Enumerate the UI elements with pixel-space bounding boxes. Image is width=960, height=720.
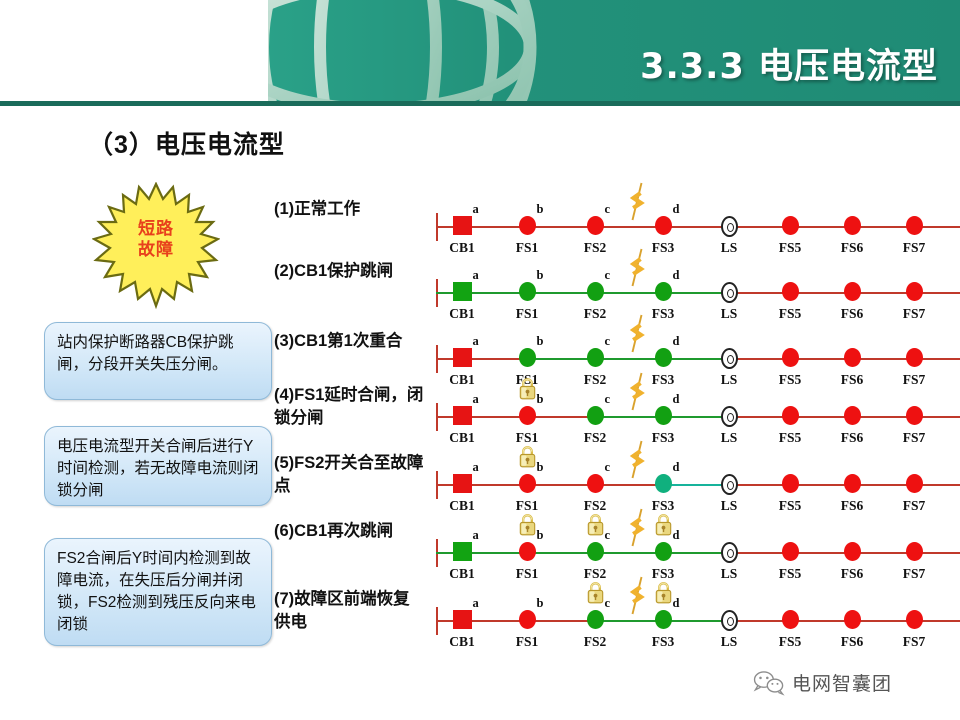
feeder-node-fs3[interactable]: FS3d	[655, 474, 672, 495]
feeder-node-fs1[interactable]: FS1b	[519, 348, 536, 369]
feeder-node-fs6[interactable]: FS6	[844, 406, 861, 427]
feeder-node-fs1[interactable]: FS1b	[519, 216, 536, 237]
breaker-square-icon	[453, 348, 472, 367]
line-segment	[527, 620, 595, 622]
switch-circle-icon	[906, 542, 923, 561]
switch-circle-icon	[906, 216, 923, 235]
feeder-node-fs1[interactable]: FS1b	[519, 610, 536, 631]
line-segment	[527, 226, 595, 228]
feeder-node-label: FS5	[779, 306, 802, 322]
line-segment	[462, 358, 527, 360]
line-segment	[595, 226, 663, 228]
breaker-square-icon	[453, 542, 472, 561]
measure-point-label-d: d	[673, 392, 680, 407]
line-segment	[527, 552, 595, 554]
burst-line-2: 故障	[92, 239, 220, 260]
feeder-node-label: CB1	[449, 498, 475, 514]
measure-point-label-d: d	[673, 596, 680, 611]
measure-point-label-a: a	[473, 334, 479, 349]
line-segment	[527, 358, 595, 360]
feeder-row-label: (1)正常工作	[274, 198, 426, 221]
feeder-node-cb1[interactable]: CB1a	[453, 216, 472, 237]
feeder-node-fs5[interactable]: FS5	[782, 282, 799, 303]
feeder-node-ls[interactable]: LS	[721, 216, 738, 237]
feeder-node-fs3[interactable]: FS3d	[655, 406, 672, 427]
switch-circle-icon	[587, 610, 604, 629]
switch-circle-icon	[519, 610, 536, 629]
switch-circle-icon	[587, 282, 604, 301]
feeder-node-cb1[interactable]: CB1a	[453, 348, 472, 369]
line-segment	[462, 484, 527, 486]
feeder-node-label: FS3	[652, 240, 675, 256]
feeder-node-label: FS7	[903, 498, 926, 514]
measure-point-label-b: b	[537, 528, 544, 543]
feeder-node-fs2[interactable]: FS2c	[587, 542, 604, 563]
feeder-node-label: CB1	[449, 566, 475, 582]
switch-circle-icon	[844, 348, 861, 367]
lightning-bolt-icon	[629, 372, 646, 412]
lightning-bolt-icon	[629, 508, 646, 548]
feeder-node-fs2[interactable]: FS2c	[587, 474, 604, 495]
measure-point-label-c: c	[605, 392, 611, 407]
switch-circle-icon	[519, 474, 536, 493]
switch-circle-icon	[587, 542, 604, 561]
feeder-row-6: (6)CB1再次跳闸CB1aFS1bFS2cFS3dLSFS5FS6FS7CB2	[274, 524, 960, 594]
line-segment	[663, 620, 729, 622]
feeder-node-label: FS6	[841, 566, 864, 582]
switch-circle-icon	[655, 216, 672, 235]
feeder-node-label: FS6	[841, 430, 864, 446]
line-segment	[527, 292, 595, 294]
tie-switch-icon	[721, 542, 738, 563]
feeder-node-fs5[interactable]: FS5	[782, 542, 799, 563]
tie-switch-icon	[721, 216, 738, 237]
breaker-square-icon	[453, 406, 472, 425]
switch-circle-icon	[587, 348, 604, 367]
measure-point-label-d: d	[673, 202, 680, 217]
measure-point-label-a: a	[473, 596, 479, 611]
tie-switch-icon	[721, 406, 738, 427]
measure-point-label-c: c	[605, 268, 611, 283]
switch-circle-icon	[782, 610, 799, 629]
breaker-square-icon	[453, 610, 472, 629]
measure-point-label-a: a	[473, 460, 479, 475]
switch-circle-icon	[655, 406, 672, 425]
line-segment	[462, 620, 527, 622]
callout-voltage-current-detect: 电压电流型开关合闸后进行Y时间检测，若无故障电流则闭锁分闸	[44, 426, 272, 506]
feeder-node-label: FS3	[652, 634, 675, 650]
feeder-node-cb1[interactable]: CB1a	[453, 406, 472, 427]
tie-switch-icon	[721, 610, 738, 631]
feeder-node-fs6[interactable]: FS6	[844, 542, 861, 563]
feeder-node-label: FS5	[779, 240, 802, 256]
feeder-node-fs5[interactable]: FS5	[782, 474, 799, 495]
feeder-node-fs3[interactable]: FS3d	[655, 542, 672, 563]
switch-circle-icon	[587, 406, 604, 425]
measure-point-label-b: b	[537, 596, 544, 611]
feeder-line: CB1aFS1bFS2cFS3dLSFS5FS6FS7CB2	[432, 264, 960, 334]
feeder-line: CB1aFS1bFS2cFS3dLSFS5FS6FS7CB2	[432, 456, 960, 526]
switch-circle-icon	[906, 406, 923, 425]
measure-point-label-a: a	[473, 202, 479, 217]
line-segment	[663, 226, 729, 228]
feeder-node-label: CB1	[449, 306, 475, 322]
switch-circle-icon	[782, 542, 799, 561]
measure-point-label-d: d	[673, 334, 680, 349]
feeder-node-label: FS1	[516, 634, 539, 650]
feeder-node-label: FS7	[903, 634, 926, 650]
measure-point-label-b: b	[537, 460, 544, 475]
feeder-node-label: FS5	[779, 430, 802, 446]
padlock-icon	[518, 444, 537, 468]
line-segment	[595, 358, 663, 360]
feeder-node-cb1[interactable]: CB1a	[453, 610, 472, 631]
feeder-node-label: FS1	[516, 566, 539, 582]
measure-point-label-d: d	[673, 528, 680, 543]
header-divider-rule	[0, 101, 960, 106]
switch-circle-icon	[844, 542, 861, 561]
feeder-row-1: (1)正常工作CB1aFS1bFS2cFS3dLSFS5FS6FS7CB2	[274, 198, 960, 268]
feeder-node-fs7[interactable]: FS7	[906, 610, 923, 631]
line-segment	[663, 292, 729, 294]
feeder-node-cb1[interactable]: CB1a	[453, 474, 472, 495]
feeder-line: CB1aFS1bFS2cFS3dLSFS5FS6FS7CB2	[432, 198, 960, 268]
feeder-node-label: LS	[721, 372, 738, 388]
feeder-node-label: FS3	[652, 306, 675, 322]
tie-switch-icon	[721, 282, 738, 303]
feeder-row-7: (7)故障区前端恢复供电CB1aFS1bFS2cFS3dLSFS5FS6FS7C…	[274, 592, 960, 662]
feeder-node-ls[interactable]: LS	[721, 474, 738, 495]
lightning-bolt-icon	[629, 248, 646, 288]
measure-point-label-c: c	[605, 334, 611, 349]
feeder-node-ls[interactable]: LS	[721, 610, 738, 631]
feeder-node-label: LS	[721, 566, 738, 582]
feeder-node-label: LS	[721, 498, 738, 514]
feeder-node-label: FS1	[516, 240, 539, 256]
feeder-node-fs7[interactable]: FS7	[906, 216, 923, 237]
switch-circle-icon	[655, 282, 672, 301]
feeder-row-label: (6)CB1再次跳闸	[274, 520, 426, 543]
feeder-node-ls[interactable]: LS	[721, 542, 738, 563]
feeder-node-label: FS7	[903, 430, 926, 446]
padlock-icon	[586, 580, 605, 604]
switch-circle-icon	[782, 406, 799, 425]
feeder-node-fs3[interactable]: FS3d	[655, 216, 672, 237]
feeder-row-2: (2)CB1保护跳闸CB1aFS1bFS2cFS3dLSFS5FS6FS7CB2	[274, 264, 960, 334]
feeder-node-fs3[interactable]: FS3d	[655, 282, 672, 303]
feeder-node-label: CB1	[449, 240, 475, 256]
feeder-node-label: FS7	[903, 566, 926, 582]
burst-text: 短路 故障	[92, 218, 220, 260]
padlock-icon	[654, 512, 673, 536]
feeder-row-4: (4)FS1延时合闸，闭锁分闸CB1aFS1bFS2cFS3dLSFS5FS6F…	[274, 388, 960, 458]
switch-circle-icon	[519, 348, 536, 367]
feeder-node-fs5[interactable]: FS5	[782, 406, 799, 427]
switch-circle-icon	[782, 216, 799, 235]
feeder-node-fs1[interactable]: FS1b	[519, 474, 536, 495]
switch-circle-icon	[844, 216, 861, 235]
feeder-node-fs7[interactable]: FS7	[906, 406, 923, 427]
switch-circle-icon	[587, 216, 604, 235]
feeder-node-fs7[interactable]: FS7	[906, 474, 923, 495]
feeder-node-fs2[interactable]: FS2c	[587, 282, 604, 303]
feeder-node-fs2[interactable]: FS2c	[587, 406, 604, 427]
feeder-node-label: CB1	[449, 430, 475, 446]
feeder-node-label: FS5	[779, 372, 802, 388]
feeder-node-label: FS6	[841, 634, 864, 650]
feeder-node-label: FS2	[584, 240, 607, 256]
feeder-row-label: (2)CB1保护跳闸	[274, 260, 426, 283]
feeder-node-fs6[interactable]: FS6	[844, 348, 861, 369]
feeder-node-fs2[interactable]: FS2c	[587, 348, 604, 369]
switch-circle-icon	[519, 216, 536, 235]
feeder-node-fs3[interactable]: FS3d	[655, 610, 672, 631]
feeder-node-label: CB1	[449, 372, 475, 388]
switch-circle-icon	[519, 542, 536, 561]
line-segment	[462, 416, 527, 418]
lightning-bolt-icon	[629, 314, 646, 354]
lightning-bolt-icon	[629, 440, 646, 480]
switch-circle-icon	[844, 282, 861, 301]
feeder-node-fs1[interactable]: FS1b	[519, 542, 536, 563]
tie-switch-icon	[721, 474, 738, 495]
feeder-node-label: FS6	[841, 240, 864, 256]
feeder-node-cb1[interactable]: CB1a	[453, 282, 472, 303]
switch-circle-icon	[782, 348, 799, 367]
feeder-node-fs1[interactable]: FS1b	[519, 406, 536, 427]
switch-circle-icon	[844, 610, 861, 629]
feeder-node-fs6[interactable]: FS6	[844, 610, 861, 631]
switch-circle-icon	[782, 282, 799, 301]
page-title: （3）电压电流型	[88, 125, 285, 161]
switch-circle-icon	[906, 282, 923, 301]
feeder-node-label: FS3	[652, 430, 675, 446]
measure-point-label-b: b	[537, 202, 544, 217]
switch-circle-icon	[519, 282, 536, 301]
switch-circle-icon	[906, 348, 923, 367]
feeder-node-cb1[interactable]: CB1a	[453, 542, 472, 563]
feeder-node-ls[interactable]: LS	[721, 406, 738, 427]
line-segment	[595, 292, 663, 294]
padlock-icon	[654, 580, 673, 604]
feeder-node-label: FS7	[903, 306, 926, 322]
feeder-node-ls[interactable]: LS	[721, 348, 738, 369]
feeder-row-label: (4)FS1延时合闸，闭锁分闸	[274, 384, 426, 430]
feeder-row-5: (5)FS2开关合至故障点CB1aFS1bFS2cFS3dLSFS5FS6FS7…	[274, 456, 960, 526]
padlock-icon	[586, 512, 605, 536]
feeder-node-label: FS6	[841, 306, 864, 322]
switch-circle-icon	[655, 610, 672, 629]
feeder-row-label: (7)故障区前端恢复供电	[274, 588, 426, 634]
line-segment	[595, 484, 663, 486]
footer-text: 电网智囊团	[792, 669, 892, 696]
feeder-node-label: FS6	[841, 372, 864, 388]
feeder-node-label: LS	[721, 306, 738, 322]
feeder-node-label: FS7	[903, 372, 926, 388]
switch-circle-icon	[906, 610, 923, 629]
feeder-node-label: FS5	[779, 566, 802, 582]
feeder-node-label: FS5	[779, 634, 802, 650]
line-segment	[462, 226, 527, 228]
feeder-node-label: FS2	[584, 372, 607, 388]
line-segment	[462, 552, 527, 554]
feeder-line: CB1aFS1bFS2cFS3dLSFS5FS6FS7CB2	[432, 524, 960, 594]
switch-circle-icon	[587, 474, 604, 493]
callout-station-protection: 站内保护断路器CB保护跳闸，分段开关失压分闸。	[44, 322, 272, 400]
measure-point-label-c: c	[605, 460, 611, 475]
feeder-node-fs7[interactable]: FS7	[906, 282, 923, 303]
measure-point-label-b: b	[537, 392, 544, 407]
line-segment	[663, 552, 729, 554]
breaker-square-icon	[453, 216, 472, 235]
measure-point-label-c: c	[605, 528, 611, 543]
feeder-node-fs6[interactable]: FS6	[844, 474, 861, 495]
switch-circle-icon	[655, 542, 672, 561]
line-segment	[462, 292, 527, 294]
feeder-node-fs5[interactable]: FS5	[782, 348, 799, 369]
measure-point-label-a: a	[473, 392, 479, 407]
feeder-node-fs6[interactable]: FS6	[844, 282, 861, 303]
measure-point-label-c: c	[605, 202, 611, 217]
feeder-line: CB1aFS1bFS2cFS3dLSFS5FS6FS7CB2	[432, 388, 960, 458]
line-segment	[663, 416, 729, 418]
feeder-node-label: LS	[721, 240, 738, 256]
measure-point-label-a: a	[473, 268, 479, 283]
feeder-node-label: LS	[721, 634, 738, 650]
lightning-bolt-icon	[629, 182, 646, 222]
tie-switch-icon	[721, 348, 738, 369]
measure-point-label-d: d	[673, 268, 680, 283]
line-segment	[663, 484, 729, 486]
measure-point-label-b: b	[537, 268, 544, 283]
feeder-node-label: FS5	[779, 498, 802, 514]
padlock-icon	[518, 512, 537, 536]
feeder-node-ls[interactable]: LS	[721, 282, 738, 303]
feeder-node-label: FS3	[652, 372, 675, 388]
measure-point-label-a: a	[473, 528, 479, 543]
short-circuit-fault-burst: 短路 故障	[92, 182, 220, 314]
feeder-node-label: FS6	[841, 498, 864, 514]
feeder-node-fs7[interactable]: FS7	[906, 348, 923, 369]
feeder-node-label: FS1	[516, 306, 539, 322]
feeder-node-label: LS	[721, 430, 738, 446]
feeder-row-label: (5)FS2开关合至故障点	[274, 452, 426, 498]
feeder-line: CB1aFS1bFS2cFS3dLSFS5FS6FS7CB2	[432, 592, 960, 662]
line-segment	[595, 416, 663, 418]
switch-circle-icon	[782, 474, 799, 493]
feeder-node-fs2[interactable]: FS2c	[587, 610, 604, 631]
switch-circle-icon	[844, 406, 861, 425]
line-segment	[595, 552, 663, 554]
globe-grid-icon	[178, 0, 578, 106]
breaker-square-icon	[453, 474, 472, 493]
switch-circle-icon	[655, 348, 672, 367]
burst-line-1: 短路	[92, 218, 220, 239]
switch-circle-icon	[655, 474, 672, 493]
line-segment	[527, 416, 595, 418]
feeder-node-label: FS2	[584, 306, 607, 322]
measure-point-label-c: c	[605, 596, 611, 611]
feeder-node-fs5[interactable]: FS5	[782, 216, 799, 237]
measure-point-label-d: d	[673, 460, 680, 475]
feeder-node-label: FS2	[584, 430, 607, 446]
line-segment	[663, 358, 729, 360]
padlock-icon	[518, 376, 537, 400]
feeder-node-fs1[interactable]: FS1b	[519, 282, 536, 303]
switch-circle-icon	[844, 474, 861, 493]
feeder-node-fs6[interactable]: FS6	[844, 216, 861, 237]
footer-watermark: 电网智囊团	[752, 668, 952, 702]
measure-point-label-b: b	[537, 334, 544, 349]
switch-circle-icon	[906, 474, 923, 493]
breaker-square-icon	[453, 282, 472, 301]
feeder-node-label: FS2	[584, 634, 607, 650]
slide-header: 3.3.3 电压电流型	[0, 0, 960, 106]
header-title: 3.3.3 电压电流型	[640, 38, 938, 89]
wechat-icon	[752, 670, 786, 696]
feeder-node-fs2[interactable]: FS2c	[587, 216, 604, 237]
feeder-row-label: (3)CB1第1次重合	[274, 330, 426, 353]
feeder-node-fs7[interactable]: FS7	[906, 542, 923, 563]
feeder-node-fs5[interactable]: FS5	[782, 610, 799, 631]
lightning-bolt-icon	[629, 576, 646, 616]
line-segment	[595, 620, 663, 622]
line-segment	[527, 484, 595, 486]
callout-fs2-lockout: FS2合闸后Y时间内检测到故障电流，在失压后分闸并闭锁，FS2检测到残压反向来电…	[44, 538, 272, 646]
feeder-node-fs3[interactable]: FS3d	[655, 348, 672, 369]
feeder-node-label: CB1	[449, 634, 475, 650]
feeder-node-label: FS7	[903, 240, 926, 256]
switch-circle-icon	[519, 406, 536, 425]
